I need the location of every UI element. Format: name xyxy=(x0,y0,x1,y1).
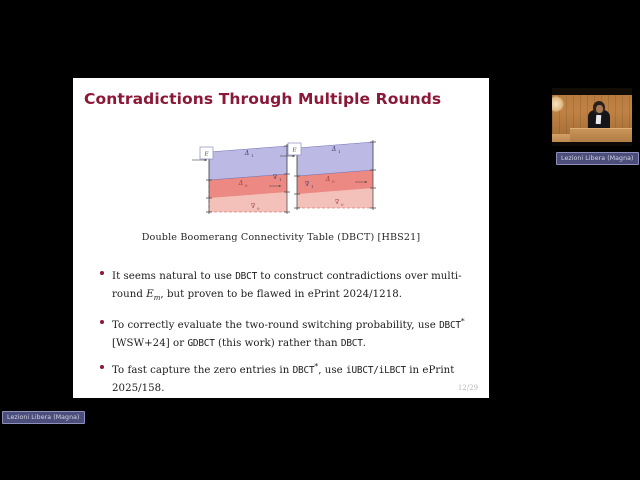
svg-text:∇: ∇ xyxy=(251,203,256,210)
svg-text:E: E xyxy=(203,152,208,158)
svg-text:Δ: Δ xyxy=(325,176,330,183)
webcam-participant-name-label: Lezioni Libera (Magna) xyxy=(556,152,639,165)
svg-text:Δ: Δ xyxy=(244,150,249,157)
main-stream-participant-name-label: Lezioni Libera (Magna) xyxy=(2,411,85,424)
video-conference-stage: Contradictions Through Multiple Rounds xyxy=(0,0,640,480)
slide-page-number: 12/29 xyxy=(458,384,478,392)
bullet-marker-icon xyxy=(100,271,104,275)
svg-text:∇: ∇ xyxy=(335,199,340,206)
presentation-slide: Contradictions Through Multiple Rounds xyxy=(73,78,489,398)
bullet-text-2: To correctly evaluate the two-round swit… xyxy=(112,320,465,349)
figure-caption: Double Boomerang Connectivity Table (DBC… xyxy=(73,232,489,243)
svg-text:1: 1 xyxy=(338,149,341,154)
svg-text:1: 1 xyxy=(279,177,282,182)
svg-text:E: E xyxy=(291,148,296,154)
bullet-text-3: To fast capture the zero entries in DBCT… xyxy=(112,365,454,394)
webcam-speaker-face xyxy=(596,105,603,113)
bullet-marker-icon xyxy=(100,320,104,324)
bullet-marker-icon xyxy=(100,365,104,369)
boomerang-trail-figure: E Δ 1 Δ 0 ∇ 1 ∇ 0 xyxy=(191,138,377,226)
webcam-speaker-lanyard xyxy=(596,115,602,124)
svg-text:Δ: Δ xyxy=(238,180,243,187)
svg-text:∇: ∇ xyxy=(305,181,310,188)
svg-text:1: 1 xyxy=(311,184,314,189)
bullet-text-1: It seems natural to use DBCT to construc… xyxy=(112,271,462,300)
slide-title: Contradictions Through Multiple Rounds xyxy=(84,90,441,108)
svg-text:∇: ∇ xyxy=(273,174,278,181)
webcam-top-band xyxy=(552,88,632,95)
slide-bullet-list: It seems natural to use DBCT to construc… xyxy=(98,266,472,398)
webcam-video-tile[interactable] xyxy=(552,88,632,146)
svg-text:Δ: Δ xyxy=(331,146,336,153)
list-item: It seems natural to use DBCT to construc… xyxy=(98,266,472,306)
webcam-floor-band xyxy=(552,142,632,146)
svg-text:1: 1 xyxy=(251,153,254,158)
list-item: To correctly evaluate the two-round swit… xyxy=(98,315,472,351)
list-item: To fast capture the zero entries in DBCT… xyxy=(98,360,472,396)
